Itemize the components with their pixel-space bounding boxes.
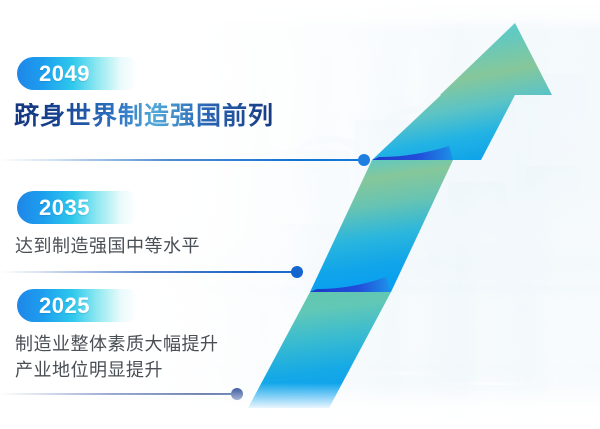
connector-line — [0, 271, 303, 273]
arrow-head — [372, 23, 552, 160]
year-badge-2025: 2025 — [17, 289, 137, 322]
connector-2049 — [0, 154, 370, 166]
light-streak — [360, 372, 450, 375]
connector-2035 — [0, 266, 303, 278]
year-badge-2049: 2049 — [17, 57, 137, 90]
connector-dot — [358, 154, 370, 166]
infographic-poster: 2049 跻身世界制造强国前列 2035 达到制造强国中等水平 2025 制造业… — [0, 0, 600, 429]
body-text-2035: 达到制造强国中等水平 — [15, 233, 200, 259]
arrow-step-middle — [310, 160, 453, 292]
connector-line — [0, 159, 370, 161]
connector-dot — [291, 266, 303, 278]
background-bottom-fade — [0, 383, 600, 429]
headline-2049: 跻身世界制造强国前列 — [14, 103, 274, 131]
year-badge-2035: 2035 — [17, 191, 137, 224]
body-text-2025: 制造业整体素质大幅提升 产业地位明显提升 — [15, 331, 219, 383]
